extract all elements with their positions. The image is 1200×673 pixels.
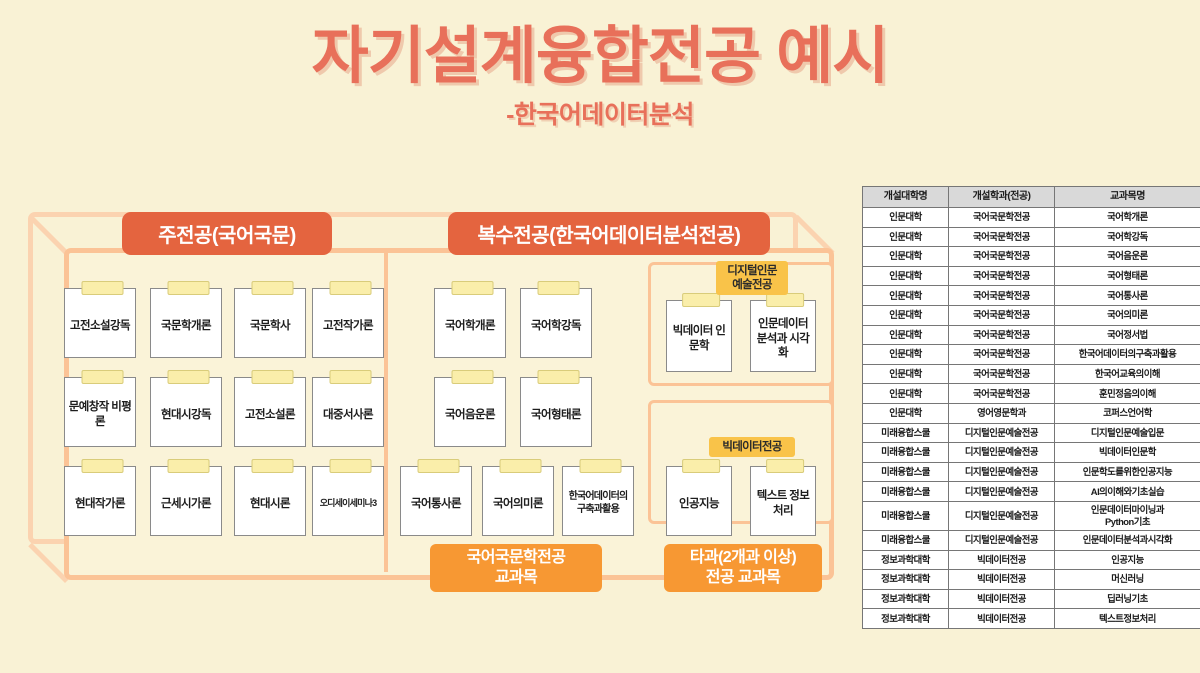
table-row: 정보과학대학빅데이터전공인공지능 [863,550,1200,570]
table-cell: 인문데이터마이닝과 Python기초 [1055,501,1200,530]
card-tab-icon [452,370,494,384]
table-row: 미래융합스쿨디지털인문예술전공디지털인문예술입문 [863,423,1200,443]
card-tab-icon [418,459,460,473]
table-cell: 디지털인문예술전공 [949,443,1055,463]
table-cell: 국어국문학전공 [949,345,1055,365]
table-cell: 디지털인문예술전공 [949,530,1055,550]
table-row: 인문대학영어영문학과코퍼스언어학 [863,403,1200,423]
table-cell: 국어의미론 [1055,305,1200,325]
card-tab-icon [682,293,720,307]
table-cell: 빅데이터전공 [949,570,1055,590]
subbox-tag-digital-humanities: 디지털인문 예술전공 [716,261,788,295]
poster-root: 자기설계융합전공 예시 -한국어데이터분석 주전공(국어국문) 복수전공(한국어… [0,0,1200,673]
table-row: 인문대학국어국문학전공국어형태론 [863,266,1200,286]
table-row: 인문대학국어국문학전공국어음운론 [863,247,1200,267]
course-card[interactable]: 국어학강독 [520,288,592,358]
table-row: 정보과학대학빅데이터전공텍스트정보처리 [863,609,1200,629]
card-tab-icon [252,459,294,473]
course-card[interactable]: 국어형태론 [520,377,592,447]
course-card[interactable]: 빅데이터 인문학 [666,300,732,372]
table-cell: 인문대학 [863,208,949,228]
table-cell: 코퍼스언어학 [1055,403,1200,423]
course-card[interactable]: 국문학사 [234,288,306,358]
card-tab-icon [82,370,124,384]
table-header-cell: 개설대학명 [863,187,949,208]
table-cell: 미래융합스쿨 [863,462,949,482]
table-cell: 미래융합스쿨 [863,423,949,443]
table-cell: 국어국문학전공 [949,305,1055,325]
caption-other-dept-courses: 타과(2개과 이상) 전공 교과목 [664,544,822,592]
table-cell: 빅데이터전공 [949,550,1055,570]
table-cell: 인문대학 [863,384,949,404]
table-cell: 인공지능 [1055,550,1200,570]
caption-korean-major-courses: 국어국문학전공 교과목 [430,544,602,592]
table-row: 인문대학국어국문학전공국어학강독 [863,227,1200,247]
card-tab-icon [168,281,210,295]
table-cell: 국어국문학전공 [949,247,1055,267]
table-cell: 인문대학 [863,266,949,286]
course-card[interactable]: 한국어데이터의 구축과활용 [562,466,634,536]
card-tab-icon [252,281,294,295]
table-cell: 정보과학대학 [863,609,949,629]
page-subtitle: -한국어데이터분석 [0,95,1200,131]
course-card[interactable]: 국어학개론 [434,288,506,358]
course-card[interactable]: 고전소설론 [234,377,306,447]
card-tab-icon [82,459,124,473]
table-cell: 미래융합스쿨 [863,501,949,530]
table-cell: 정보과학대학 [863,570,949,590]
table-cell: 국어음운론 [1055,247,1200,267]
section-header-double-major: 복수전공(한국어데이터분석전공) [448,212,770,255]
table-row: 미래융합스쿨디지털인문예술전공빅데이터인문학 [863,443,1200,463]
table-cell: 디지털인문예술전공 [949,482,1055,502]
table-cell: 인문대학 [863,345,949,365]
course-card[interactable]: 인공지능 [666,466,732,536]
card-tab-icon [330,281,372,295]
table-cell: 국어국문학전공 [949,325,1055,345]
table-cell: 빅데이터전공 [949,609,1055,629]
table-cell: 미래융합스쿨 [863,482,949,502]
course-table: 개설대학명 개설학과(전공) 교과목명 인문대학국어국문학전공국어학개론인문대학… [862,186,1200,629]
table-cell: 국어정서법 [1055,325,1200,345]
card-tab-icon [580,459,622,473]
course-card[interactable]: 텍스트 정보처리 [750,466,816,536]
table-cell: 영어영문학과 [949,403,1055,423]
table-cell: 인문대학 [863,286,949,306]
course-card[interactable]: 현대시론 [234,466,306,536]
table-cell: 텍스트정보처리 [1055,609,1200,629]
table-cell: 미래융합스쿨 [863,530,949,550]
card-tab-icon [500,459,542,473]
course-card[interactable]: 대중서사론 [312,377,384,447]
table-row: 인문대학국어국문학전공한국어교육의이해 [863,364,1200,384]
table-cell: 디지털인문예술전공 [949,462,1055,482]
table-cell: 딥러닝기초 [1055,589,1200,609]
course-card[interactable]: 국어음운론 [434,377,506,447]
table-cell: 국어국문학전공 [949,227,1055,247]
table-row: 정보과학대학빅데이터전공머신러닝 [863,570,1200,590]
table-row: 인문대학국어국문학전공한국어데이터의구축과활용 [863,345,1200,365]
table-cell: 국어학개론 [1055,208,1200,228]
table-row: 정보과학대학빅데이터전공딥러닝기초 [863,589,1200,609]
table-cell: 인문대학 [863,325,949,345]
table-row: 미래융합스쿨디지털인문예술전공인문데이터마이닝과 Python기초 [863,501,1200,530]
table-row: 미래융합스쿨디지털인문예술전공인문학도를위한인공지능 [863,462,1200,482]
table-cell: 빅데이터인문학 [1055,443,1200,463]
card-tab-icon [766,293,804,307]
table-cell: 국어학강독 [1055,227,1200,247]
table-cell: 인문대학 [863,403,949,423]
table-row: 인문대학국어국문학전공훈민정음의이해 [863,384,1200,404]
table-cell: 훈민정음의이해 [1055,384,1200,404]
card-tab-icon [452,281,494,295]
card-tab-icon [330,459,372,473]
table-header-cell: 개설학과(전공) [949,187,1055,208]
table-cell: 디지털인문예술전공 [949,501,1055,530]
card-tab-icon [330,370,372,384]
frame-edge-bottom-left [28,543,68,583]
course-card[interactable]: 현대작가론 [64,466,136,536]
table-cell: 빅데이터전공 [949,589,1055,609]
table-cell: 인문대학 [863,247,949,267]
table-header-row: 개설대학명 개설학과(전공) 교과목명 [863,187,1200,208]
table-cell: 인문대학 [863,364,949,384]
course-card[interactable]: 국어의미론 [482,466,554,536]
table-cell: 정보과학대학 [863,550,949,570]
table-cell: 국어형태론 [1055,266,1200,286]
table-cell: 미래융합스쿨 [863,443,949,463]
table-body: 인문대학국어국문학전공국어학개론인문대학국어국문학전공국어학강독인문대학국어국문… [863,208,1200,629]
card-tab-icon [766,459,804,473]
table-row: 미래융합스쿨디지털인문예술전공인문데이터분석과시각화 [863,530,1200,550]
table-cell: 국어국문학전공 [949,286,1055,306]
course-table-wrapper: 개설대학명 개설학과(전공) 교과목명 인문대학국어국문학전공국어학개론인문대학… [862,186,1200,629]
table-cell: 정보과학대학 [863,589,949,609]
course-card[interactable]: 국문학개론 [150,288,222,358]
table-cell: 국어국문학전공 [949,208,1055,228]
table-cell: 인문데이터분석과시각화 [1055,530,1200,550]
card-tab-icon [538,370,580,384]
course-card[interactable]: 인문데이터 분석과 시각화 [750,300,816,372]
card-tab-icon [168,459,210,473]
course-card[interactable]: 고전소설강독 [64,288,136,358]
card-tab-icon [538,281,580,295]
subbox-tag-bigdata: 빅데이터전공 [709,437,795,457]
table-row: 인문대학국어국문학전공국어정서법 [863,325,1200,345]
table-cell: 국어국문학전공 [949,364,1055,384]
course-card[interactable]: 현대시강독 [150,377,222,447]
table-row: 미래융합스쿨디지털인문예술전공AI의이해와기초실습 [863,482,1200,502]
table-cell: 디지털인문예술입문 [1055,423,1200,443]
table-row: 인문대학국어국문학전공국어학개론 [863,208,1200,228]
card-tab-icon [168,370,210,384]
card-tab-icon [82,281,124,295]
table-cell: 국어국문학전공 [949,384,1055,404]
table-cell: 머신러닝 [1055,570,1200,590]
course-card[interactable]: 근세시가론 [150,466,222,536]
card-tab-icon [682,459,720,473]
course-card[interactable]: 고전작가론 [312,288,384,358]
table-cell: 국어국문학전공 [949,266,1055,286]
table-cell: 인문대학 [863,305,949,325]
course-card[interactable]: 오디세이세미나3 [312,466,384,536]
table-row: 인문대학국어국문학전공국어통사론 [863,286,1200,306]
section-divider [384,252,388,572]
table-cell: 국어통사론 [1055,286,1200,306]
table-header-cell: 교과목명 [1055,187,1200,208]
table-cell: 인문학도를위한인공지능 [1055,462,1200,482]
table-cell: 한국어데이터의구축과활용 [1055,345,1200,365]
table-cell: 디지털인문예술전공 [949,423,1055,443]
title-block: 자기설계융합전공 예시 -한국어데이터분석 [0,24,1200,131]
course-card[interactable]: 문예창작 비평론 [64,377,136,447]
course-card[interactable]: 국어통사론 [400,466,472,536]
card-tab-icon [252,370,294,384]
page-title: 자기설계융합전공 예시 [0,24,1200,89]
table-cell: AI의이해와기초실습 [1055,482,1200,502]
table-cell: 한국어교육의이해 [1055,364,1200,384]
section-header-main-major: 주전공(국어국문) [122,212,332,255]
table-cell: 인문대학 [863,227,949,247]
table-row: 인문대학국어국문학전공국어의미론 [863,305,1200,325]
